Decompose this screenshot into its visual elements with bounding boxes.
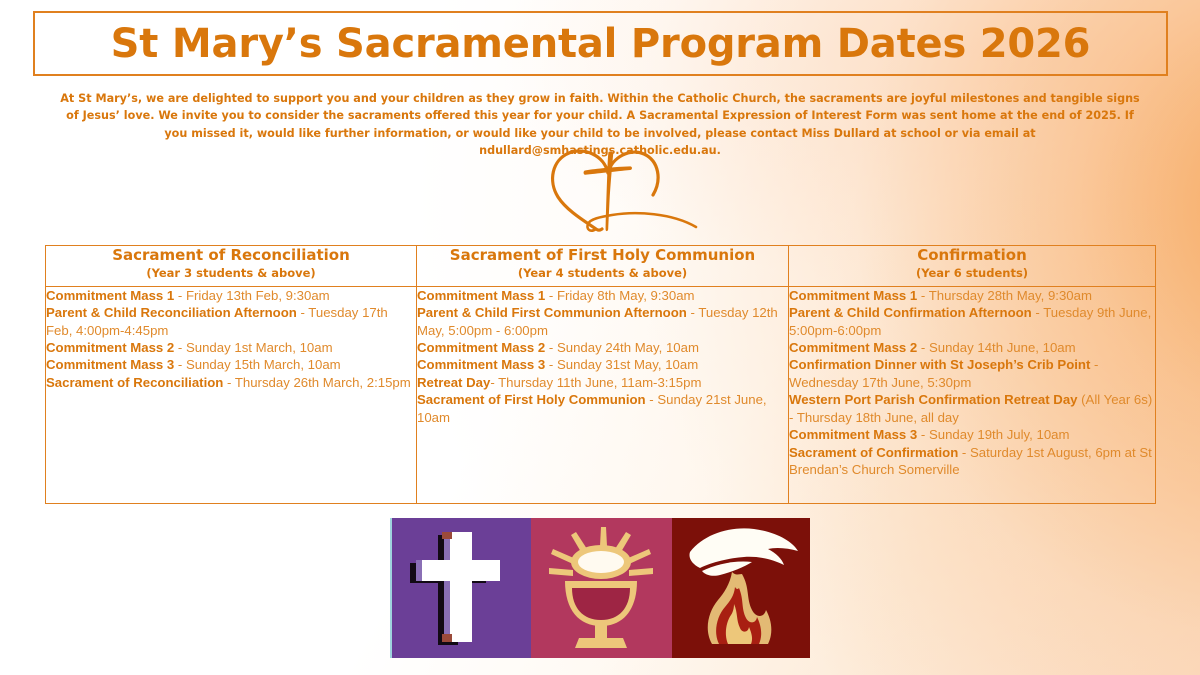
event-label: Western Port Parish Confirmation Retreat… xyxy=(789,392,1077,407)
column-header-reconciliation: Sacrament of Reconciliation (Year 3 stud… xyxy=(46,246,417,287)
event-detail: - Sunday 14th June, 10am xyxy=(917,340,1075,355)
event-detail: - Sunday 24th May, 10am xyxy=(545,340,699,355)
table-header-row: Sacrament of Reconciliation (Year 3 stud… xyxy=(46,246,1156,287)
event-list: Commitment Mass 1 - Thursday 28th May, 9… xyxy=(789,287,1155,479)
event-label: Commitment Mass 3 xyxy=(417,357,545,372)
event-detail: - Sunday 31st May, 10am xyxy=(545,357,698,372)
event-label: Sacrament of Confirmation xyxy=(789,445,958,460)
column-subtitle: (Year 6 students) xyxy=(789,266,1155,281)
event-label: Commitment Mass 3 xyxy=(46,357,174,372)
event-label: Parent & Child Reconciliation Afternoon xyxy=(46,305,297,320)
title-banner: St Mary’s Sacramental Program Dates 2026 xyxy=(33,11,1168,76)
event-detail: - Sunday 19th July, 10am xyxy=(917,427,1069,442)
page-title: St Mary’s Sacramental Program Dates 2026 xyxy=(111,24,1091,64)
event-label: Commitment Mass 1 xyxy=(417,288,545,303)
event-label: Sacrament of First Holy Communion xyxy=(417,392,646,407)
event-paragraph: Commitment Mass 1 - Friday 13th Feb, 9:3… xyxy=(46,287,416,392)
event-label: Commitment Mass 2 xyxy=(789,340,917,355)
table-body-row: Commitment Mass 1 - Friday 13th Feb, 9:3… xyxy=(46,286,1156,503)
dove-and-flame-icon xyxy=(672,518,810,654)
column-title: Sacrament of Reconciliation xyxy=(46,246,416,265)
event-list: Commitment Mass 1 - Friday 13th Feb, 9:3… xyxy=(46,287,416,392)
chalice-icon xyxy=(531,518,672,654)
column-header-first-holy-communion: Sacrament of First Holy Communion (Year … xyxy=(417,246,789,287)
panel-communion-chalice xyxy=(531,518,672,658)
events-cell-reconciliation: Commitment Mass 1 - Friday 13th Feb, 9:3… xyxy=(46,286,417,503)
heart-and-cross-icon xyxy=(520,143,700,235)
event-label: Commitment Mass 1 xyxy=(46,288,174,303)
sacrament-dates-table: Sacrament of Reconciliation (Year 3 stud… xyxy=(45,245,1156,504)
event-detail: - Friday 13th Feb, 9:30am xyxy=(174,288,329,303)
event-label: Commitment Mass 3 xyxy=(789,427,917,442)
panel-baptism-cross xyxy=(392,518,531,658)
event-detail: - Thursday 11th June, 11am-3:15pm xyxy=(490,375,701,390)
column-subtitle: (Year 3 students & above) xyxy=(46,266,416,281)
events-cell-confirmation: Commitment Mass 1 - Thursday 28th May, 9… xyxy=(789,286,1156,503)
event-label: Parent & Child Confirmation Afternoon xyxy=(789,305,1032,320)
event-paragraph: Commitment Mass 1 - Friday 8th May, 9:30… xyxy=(417,287,788,426)
event-list: Commitment Mass 1 - Friday 8th May, 9:30… xyxy=(417,287,788,426)
event-label: Sacrament of Reconciliation xyxy=(46,375,223,390)
cross-icon xyxy=(392,518,531,654)
panel-confirmation-dove-flame xyxy=(672,518,810,658)
event-detail: - Sunday 1st March, 10am xyxy=(174,340,332,355)
event-detail: - Thursday 26th March, 2:15pm xyxy=(223,375,410,390)
event-label: Commitment Mass 1 xyxy=(789,288,917,303)
event-label: Confirmation Dinner with St Joseph’s Cri… xyxy=(789,357,1090,372)
column-subtitle: (Year 4 students & above) xyxy=(417,266,788,281)
events-cell-first-holy-communion: Commitment Mass 1 - Friday 8th May, 9:30… xyxy=(417,286,789,503)
heart-and-cross-logo xyxy=(520,143,700,235)
event-label: Commitment Mass 2 xyxy=(417,340,545,355)
event-label: Retreat Day xyxy=(417,375,490,390)
event-label: Parent & Child First Communion Afternoon xyxy=(417,305,687,320)
column-title: Sacrament of First Holy Communion xyxy=(417,246,788,265)
sacrament-symbols-image xyxy=(390,518,810,658)
event-detail: - Sunday 15th March, 10am xyxy=(174,357,340,372)
event-detail: - Friday 8th May, 9:30am xyxy=(545,288,694,303)
event-detail: - Thursday 28th May, 9:30am xyxy=(917,288,1092,303)
column-title: Confirmation xyxy=(789,246,1155,265)
column-header-confirmation: Confirmation (Year 6 students) xyxy=(789,246,1156,287)
event-paragraph: Commitment Mass 1 - Thursday 28th May, 9… xyxy=(789,287,1155,479)
event-label: Commitment Mass 2 xyxy=(46,340,174,355)
